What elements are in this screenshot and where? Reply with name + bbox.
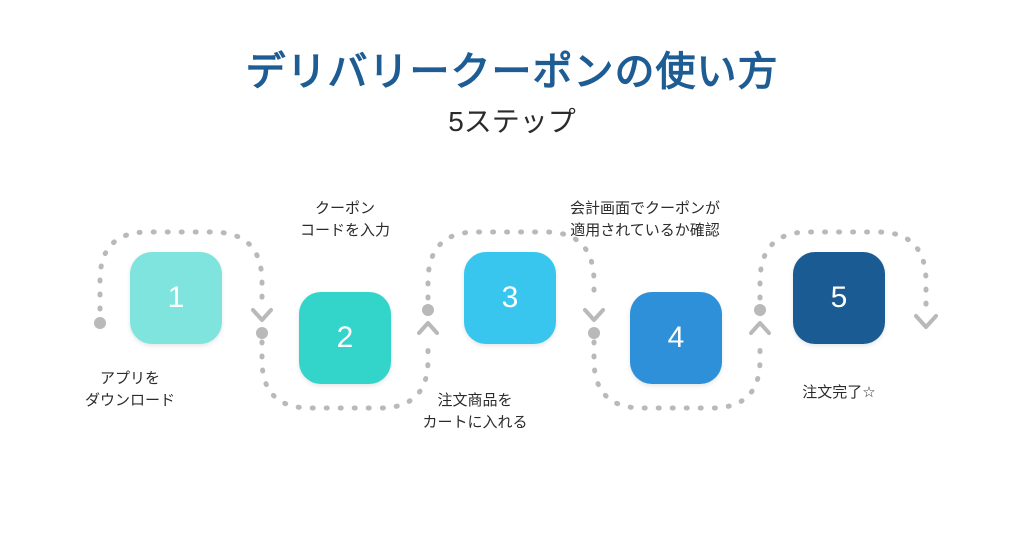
chevron-down-icon xyxy=(585,310,603,320)
step-4-label: 会計画面でクーポンが 適用されているか確認 xyxy=(530,198,760,242)
step-5-number: 5 xyxy=(831,283,848,313)
chevron-down-icon xyxy=(253,310,271,320)
step-5-label: 注文完了☆ xyxy=(724,382,954,404)
connector-3-4 xyxy=(585,310,603,339)
connector-4-5 xyxy=(751,304,769,333)
step-2-box[interactable]: 2 xyxy=(299,292,391,384)
step-4-number: 4 xyxy=(668,323,685,353)
step-3-label: 注文商品を カートに入れる xyxy=(360,390,590,434)
infographic-canvas: デリバリークーポンの使い方 5ステップ xyxy=(0,0,1024,538)
connector-2-3 xyxy=(419,304,437,333)
step-5-box[interactable]: 5 xyxy=(793,252,885,344)
step-1-number: 1 xyxy=(168,283,185,313)
chevron-up-icon xyxy=(419,323,437,333)
connector-dot xyxy=(256,327,268,339)
chevron-up-icon xyxy=(751,323,769,333)
end-arrow-down-icon xyxy=(916,316,936,327)
start-dot xyxy=(94,317,106,329)
step-2-label: クーポン コードを入力 xyxy=(230,198,460,242)
connector-dot xyxy=(588,327,600,339)
connector-dot xyxy=(754,304,766,316)
step-flow: 1 アプリを ダウンロード 2 クーポン コードを入力 3 注文商品を カートに… xyxy=(0,170,1024,470)
step-2-number: 2 xyxy=(337,323,354,353)
step-3-box[interactable]: 3 xyxy=(464,252,556,344)
header: デリバリークーポンの使い方 5ステップ xyxy=(0,0,1024,140)
step-3-number: 3 xyxy=(502,283,519,313)
step-1-box[interactable]: 1 xyxy=(130,252,222,344)
page-title: デリバリークーポンの使い方 xyxy=(0,0,1024,98)
page-subtitle: 5ステップ xyxy=(0,98,1024,140)
connector-1-2 xyxy=(253,310,271,339)
step-1-label: アプリを ダウンロード xyxy=(15,368,245,412)
step-4-box[interactable]: 4 xyxy=(630,292,722,384)
connector-dot xyxy=(422,304,434,316)
